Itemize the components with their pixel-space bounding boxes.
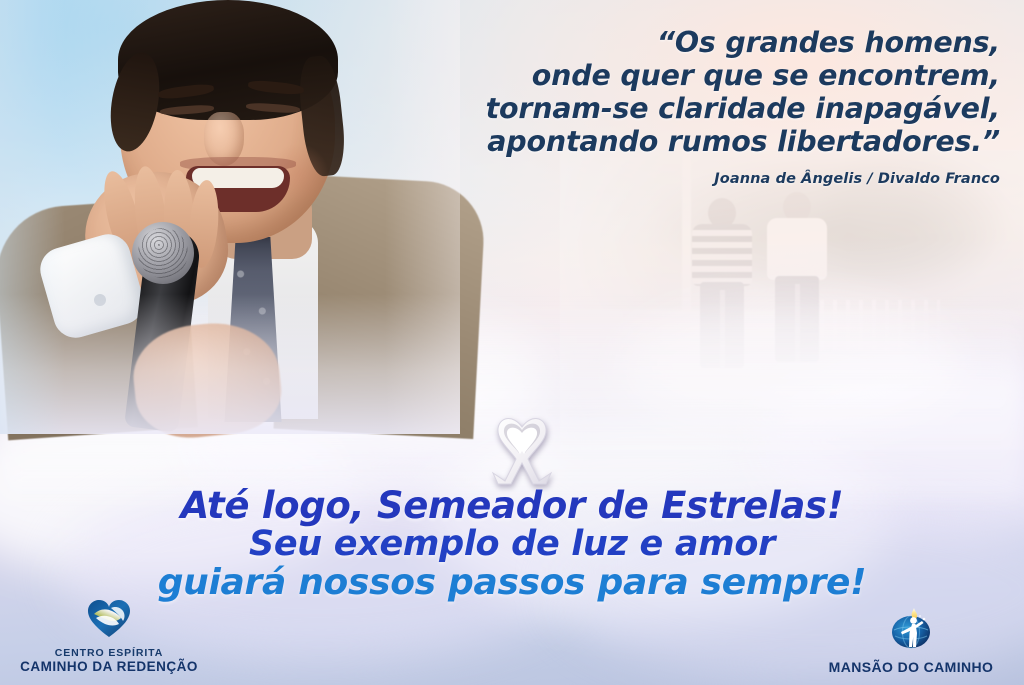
quote-line-2: onde quer que se encontrem, [440, 59, 1000, 92]
logo-left-line-1: CENTRO ESPÍRITA [14, 647, 204, 659]
white-awareness-ribbon [489, 411, 555, 485]
quote-attribution: Joanna de Ângelis / Divaldo Franco [714, 171, 1000, 187]
headline-line-2: Seu exemplo de luz e amor [0, 525, 1024, 563]
headline-line-1: Até logo, Semeador de Estrelas! [0, 487, 1024, 525]
memorial-poster: “Os grandes homens, onde quer que se enc… [0, 0, 1024, 685]
logo-right-line-2: MANSÃO DO CAMINHO [806, 659, 1016, 675]
quote-line-3: tornam-se claridade inapagável, [440, 92, 1000, 125]
headline-block: Até logo, Semeador de Estrelas! Seu exem… [0, 487, 1024, 602]
quote-line-1: “Os grandes homens, [440, 26, 1000, 59]
globe-figure-icon [806, 607, 1016, 656]
logo-left-line-2: CAMINHO DA REDENÇÃO [14, 659, 204, 675]
logo-mansao-do-caminho: MANSÃO DO CAMINHO [806, 607, 1016, 675]
heart-hands-icon [14, 599, 204, 644]
portrait-edge-blend [0, 0, 460, 434]
divaldo-franco-portrait [0, 0, 460, 424]
quote-text: “Os grandes homens, onde quer que se enc… [440, 26, 1000, 158]
headline-line-3: guiará nossos passos para sempre! [0, 563, 1024, 602]
quote-line-4: apontando rumos libertadores.” [440, 125, 1000, 158]
logo-centro-espirita: CENTRO ESPÍRITA CAMINHO DA REDENÇÃO [14, 599, 204, 675]
